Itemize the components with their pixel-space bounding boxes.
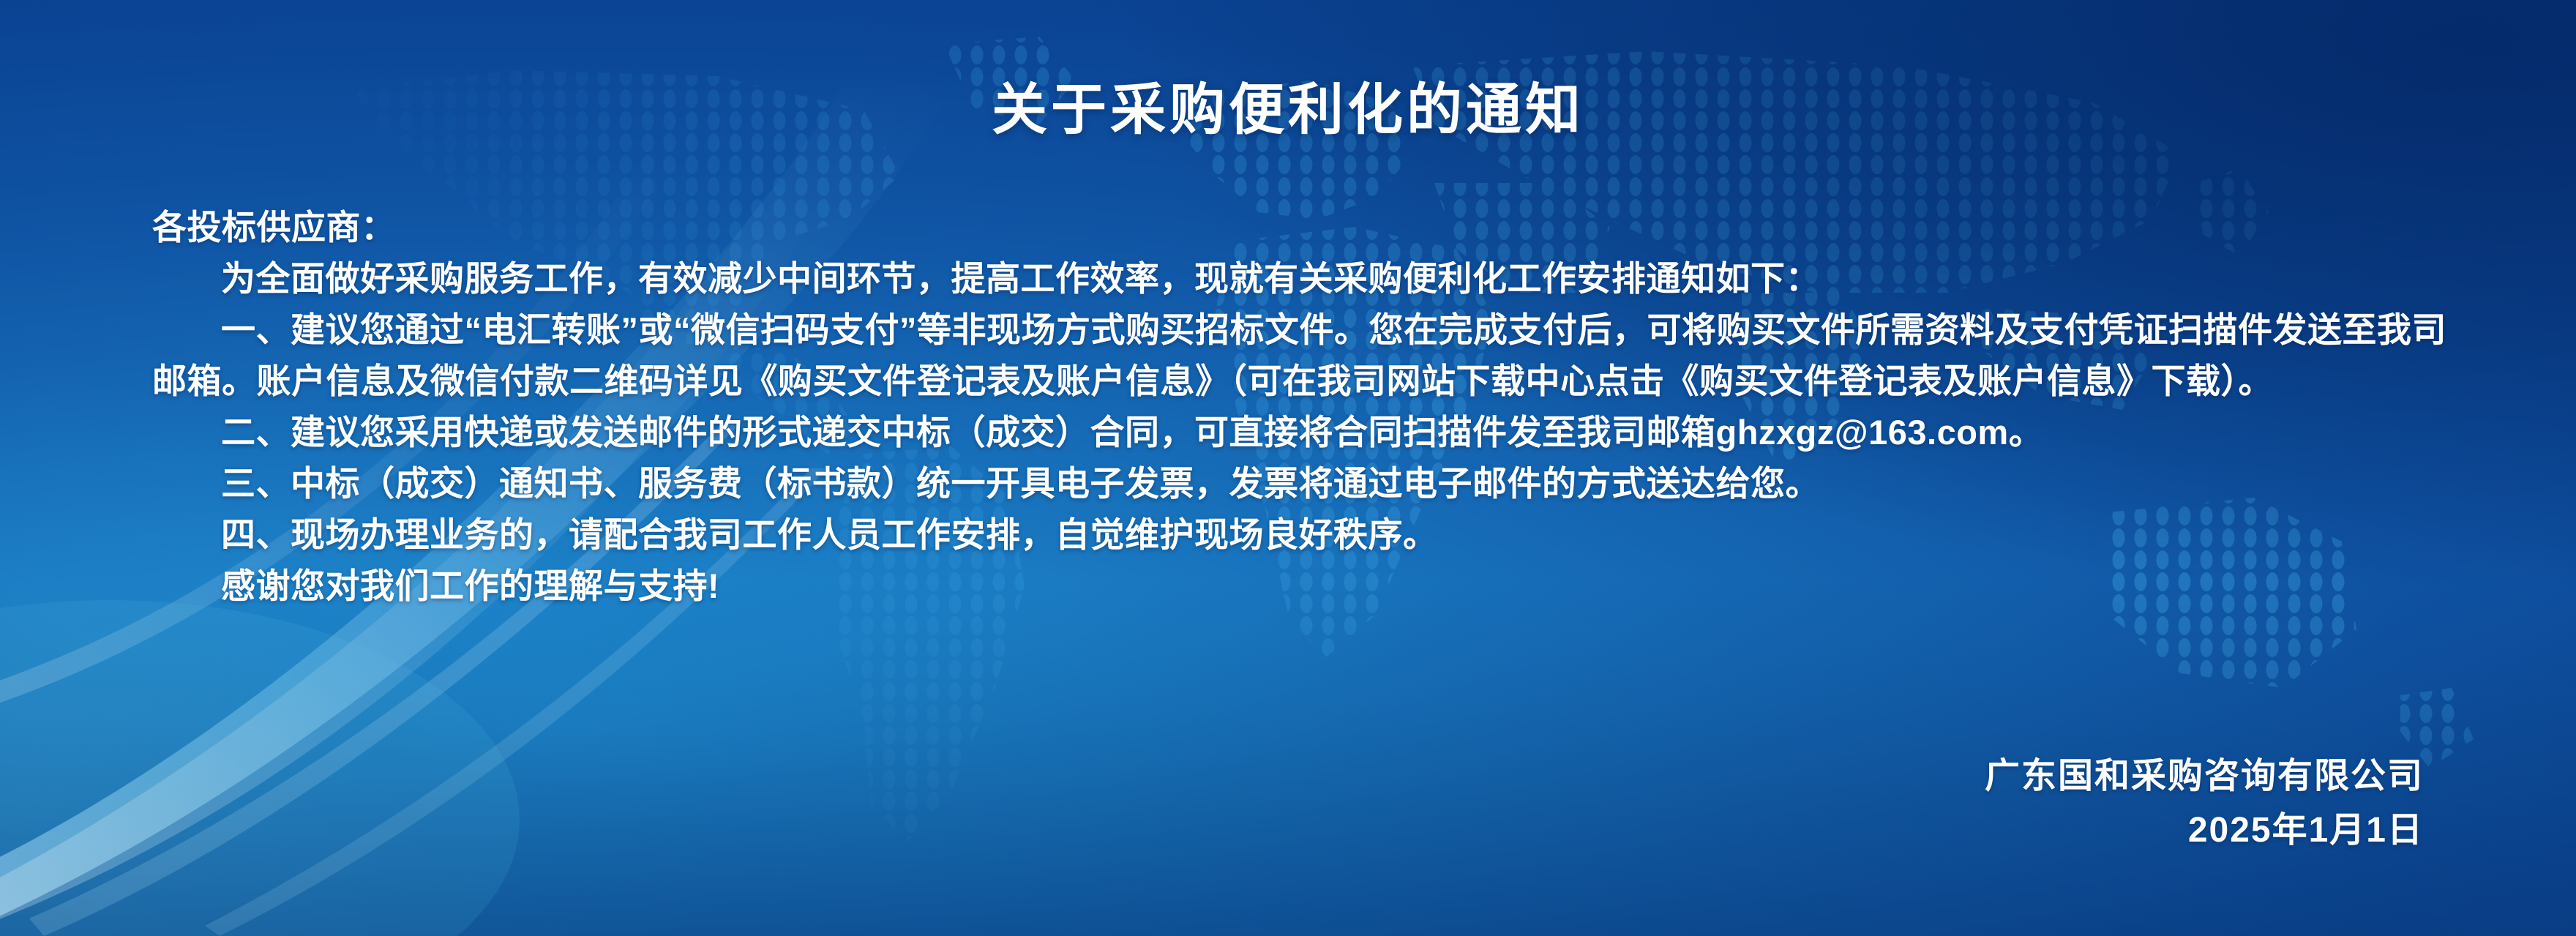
- paragraph-intro: 为全面做好采购服务工作，有效减少中间环节，提高工作效率，现就有关采购便利化工作安…: [152, 253, 2465, 304]
- paragraph-item-1: 一、建议您通过“电汇转账”或“微信扫码支付”等非现场方式购买招标文件。您在完成支…: [152, 304, 2465, 407]
- closing-line: 感谢您对我们工作的理解与支持!: [152, 561, 2465, 612]
- page-title: 关于采购便利化的通知: [0, 64, 2576, 145]
- paragraph-item-4: 四、现场办理业务的，请配合我司工作人员工作安排，自觉维护现场良好秩序。: [152, 509, 2465, 561]
- signature-company: 广东国和采购咨询有限公司: [1985, 754, 2424, 799]
- notice-banner: 关于采购便利化的通知 各投标供应商： 为全面做好采购服务工作，有效减少中间环节，…: [0, 0, 2576, 936]
- notice-content: 关于采购便利化的通知 各投标供应商： 为全面做好采购服务工作，有效减少中间环节，…: [0, 0, 2576, 936]
- notice-body: 各投标供应商： 为全面做好采购服务工作，有效减少中间环节，提高工作效率，现就有关…: [152, 202, 2465, 612]
- salutation: 各投标供应商：: [152, 202, 2465, 253]
- paragraph-item-2: 二、建议您采用快递或发送邮件的形式递交中标（成交）合同，可直接将合同扫描件发至我…: [152, 407, 2465, 458]
- paragraph-item-3: 三、中标（成交）通知书、服务费（标书款）统一开具电子发票，发票将通过电子邮件的方…: [152, 458, 2465, 509]
- signature-date: 2025年1月1日: [1985, 808, 2424, 853]
- signature-block: 广东国和采购咨询有限公司 2025年1月1日: [1985, 754, 2424, 853]
